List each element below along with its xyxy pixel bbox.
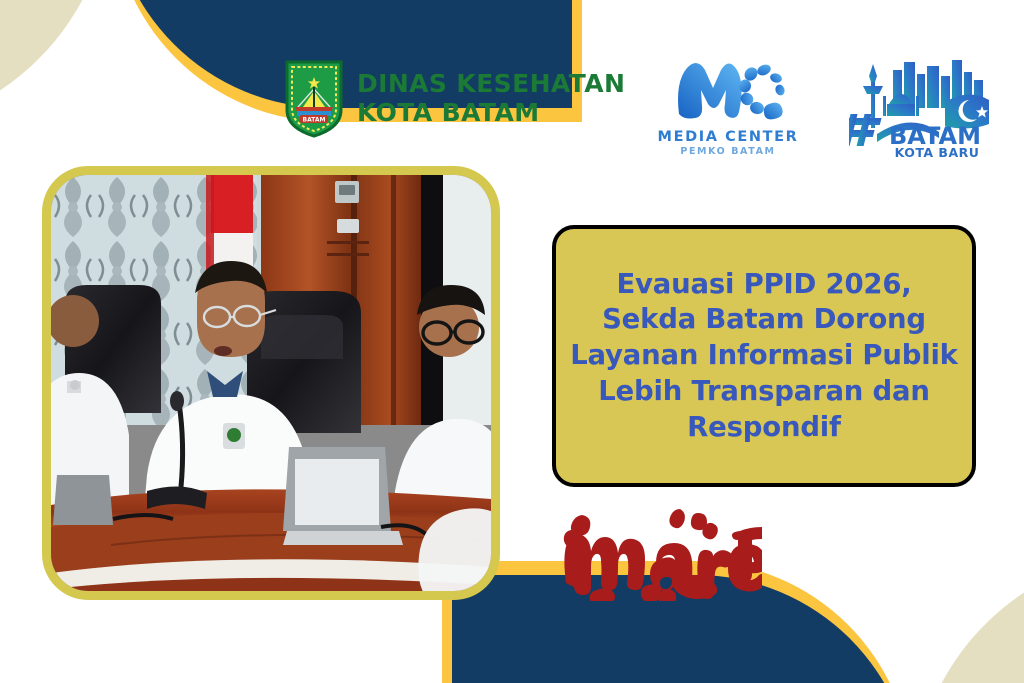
batam-kota-baru-subtitle: KOTA BARU: [895, 145, 980, 160]
decor-beige-quarter-bottom-right: [912, 551, 1024, 683]
media-center-name: MEDIA CENTER: [648, 129, 808, 145]
logo-row: BATAM DINAS KESEHATAN KOTA BATAM: [0, 46, 1024, 164]
headline-card: Evauasi PPID 2026, Sekda Batam Dorong La…: [552, 225, 976, 487]
media-center-subtitle: PEMKO BATAM: [648, 146, 808, 157]
media-center-mc-monogram-icon: [667, 54, 789, 122]
headline-text: Evauasi PPID 2026, Sekda Batam Dorong La…: [570, 267, 958, 446]
batam-skyline-icon: BATAM KOTA BARU: [849, 56, 997, 160]
logo-media-center: MEDIA CENTER PEMKO BATAM: [648, 54, 808, 157]
meeting-room-illustration: [51, 175, 491, 591]
batam-city-crest-icon: BATAM: [283, 58, 345, 138]
news-photo-image: [51, 175, 491, 591]
dinkes-line-1: DINAS KESEHATAN: [357, 69, 625, 99]
maret-brush-lettering-icon: [552, 497, 762, 601]
logo-batam-kota-baru: BATAM KOTA BARU: [849, 56, 997, 165]
headline-line-1: Evauasi PPID 2026,: [570, 267, 958, 303]
dinas-kesehatan-label: DINAS KESEHATAN KOTA BATAM: [357, 69, 625, 128]
logo-dinas-kesehatan: BATAM DINAS KESEHATAN KOTA BATAM: [283, 58, 625, 138]
poster-canvas: BATAM DINAS KESEHATAN KOTA BATAM: [0, 0, 1024, 683]
month-wordmark: [552, 497, 762, 601]
svg-text:BATAM: BATAM: [303, 117, 326, 124]
headline-line-4: Lebih Transparan dan: [570, 374, 958, 410]
headline-line-3: Layanan Informasi Publik: [570, 338, 958, 374]
headline-line-5: Respondif: [570, 410, 958, 446]
news-photo: [42, 166, 500, 600]
headline-line-2: Sekda Batam Dorong: [570, 302, 958, 338]
dinkes-line-2: KOTA BATAM: [357, 98, 625, 128]
